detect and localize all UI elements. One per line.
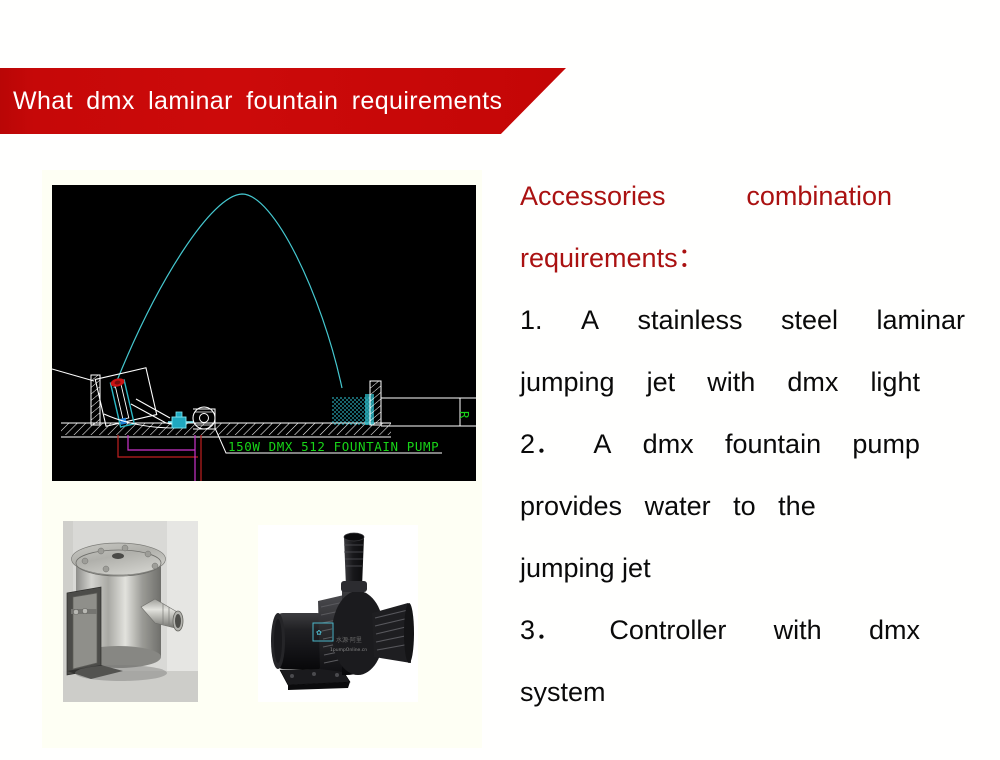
- item-word: dmx: [643, 413, 694, 475]
- item-word: dmx: [787, 351, 838, 413]
- item-number: 1.: [520, 289, 543, 351]
- requirement-item-3-line-1: 3． Controller with dmx: [520, 599, 920, 661]
- item-word: A: [581, 289, 599, 351]
- requirement-item-1-line-1: 1. A stainless steel laminar: [520, 289, 965, 351]
- requirement-item-2-line-1: 2． A dmx fountain pump: [520, 413, 920, 475]
- item-word: A: [593, 413, 611, 475]
- item-word: fountain: [725, 413, 821, 475]
- item-number: 2．: [520, 413, 562, 475]
- requirement-item-3-line-2: system: [520, 661, 982, 723]
- item-word: jumping: [520, 351, 615, 413]
- cad-pump-label: 150W DMX 512 FOUNTAIN PUMP: [228, 439, 439, 454]
- requirement-item-2-line-2: provides water to the: [520, 475, 982, 537]
- item-word: pump: [852, 413, 920, 475]
- item-word: with: [707, 351, 755, 413]
- heading-word: Accessories: [520, 165, 666, 227]
- item-word: jet: [647, 351, 676, 413]
- heading-word: combination: [746, 165, 892, 227]
- item-word: to: [733, 475, 756, 537]
- item-word: provides: [520, 475, 622, 537]
- item-word: light: [870, 351, 920, 413]
- item-word: Controller: [609, 599, 726, 661]
- item-word: stainless: [637, 289, 742, 351]
- item-word: with: [774, 599, 822, 661]
- svg-text:R: R: [457, 411, 472, 419]
- cad-installation-diagram: R 150W DMX 512 FOUNTAIN PUMP: [52, 185, 476, 481]
- heading-line-1: Accessories combination: [520, 165, 892, 227]
- slide-canvas: What dmx laminar fountain requirements: [0, 0, 1000, 760]
- heading-line-2: requirements：: [520, 227, 982, 289]
- title-banner: What dmx laminar fountain requirements: [0, 68, 566, 134]
- dmx-fountain-pump-photo: ✿ 水源·阿里 1pumpOnline.cn: [258, 525, 418, 702]
- item-word: laminar: [876, 289, 965, 351]
- item-word: the: [778, 475, 816, 537]
- item-word: dmx: [869, 599, 920, 661]
- item-word: steel: [781, 289, 838, 351]
- svg-text:1pumpOnline.cn: 1pumpOnline.cn: [330, 647, 367, 653]
- requirement-item-1-line-2: jumping jet with dmx light: [520, 351, 920, 413]
- page-title: What dmx laminar fountain requirements: [0, 87, 502, 116]
- item-number: 3．: [520, 599, 562, 661]
- requirement-item-2-line-3: jumping jet: [520, 537, 982, 599]
- requirements-text-column: Accessories combination requirements： 1.…: [520, 165, 982, 723]
- stainless-steel-laminar-jet-photo: [63, 521, 198, 702]
- svg-text:✿: ✿: [316, 629, 322, 637]
- item-word: water: [645, 475, 711, 537]
- svg-text:水源·阿里: 水源·阿里: [336, 636, 362, 644]
